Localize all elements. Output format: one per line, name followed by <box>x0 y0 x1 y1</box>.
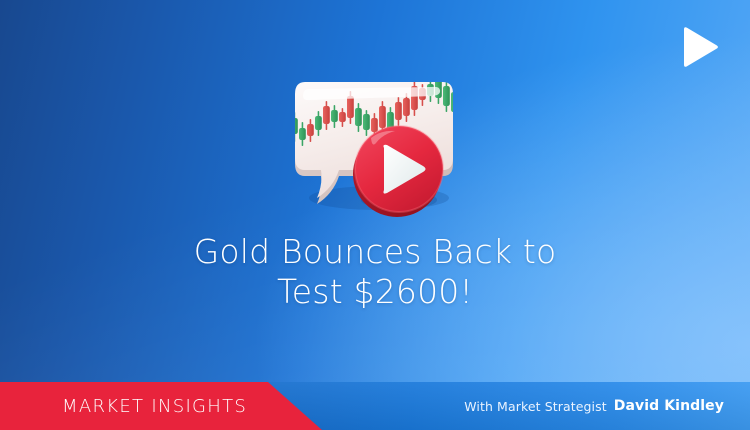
presenter-credit: With Market Strategist David Kindley <box>464 382 724 430</box>
presenter-prefix: With Market Strategist <box>464 399 607 414</box>
video-thumbnail-card: Gold Bounces Back to Test $2600! MARKET … <box>0 0 750 430</box>
speech-bubble-candlestick-illustration <box>283 72 467 210</box>
presenter-name: David Kindley <box>614 398 724 414</box>
headline-line-1: Gold Bounces Back to <box>194 232 557 271</box>
play-icon[interactable] <box>672 22 724 74</box>
headline-line-2: Test $2600! <box>0 272 750 312</box>
bottom-bar: MARKET INSIGHTS With Market Strategist D… <box>0 382 750 430</box>
category-label: MARKET INSIGHTS <box>62 382 247 430</box>
page-title: Gold Bounces Back to Test $2600! <box>0 232 750 312</box>
background-sheen <box>0 0 750 430</box>
